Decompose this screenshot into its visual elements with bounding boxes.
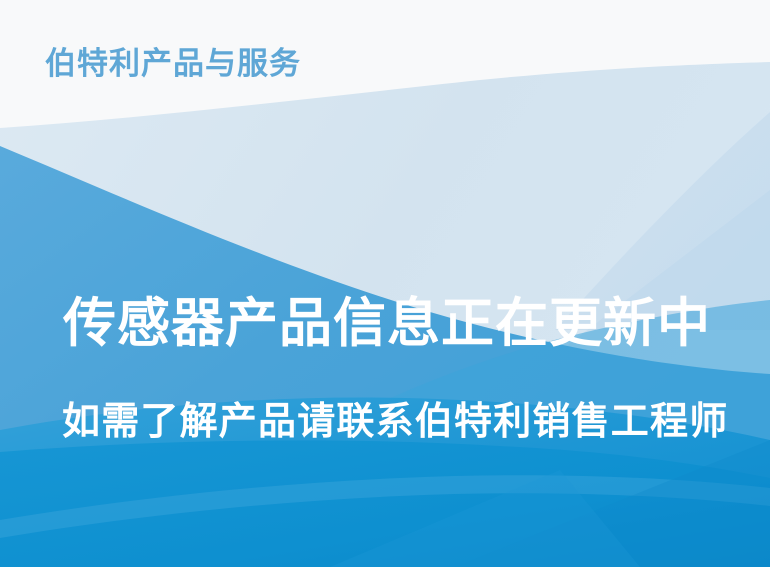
page-title: 传感器产品信息正在更新中 xyxy=(63,295,711,353)
page-subtitle: 如需了解产品请联系伯特利销售工程师 xyxy=(62,402,728,444)
product-notice-banner: 伯特利产品与服务 传感器产品信息正在更新中 如需了解产品请联系伯特利销售工程师 xyxy=(0,0,770,567)
brand-heading: 伯特利产品与服务 xyxy=(45,47,301,81)
text-layer: 伯特利产品与服务 传感器产品信息正在更新中 如需了解产品请联系伯特利销售工程师 xyxy=(0,0,770,567)
